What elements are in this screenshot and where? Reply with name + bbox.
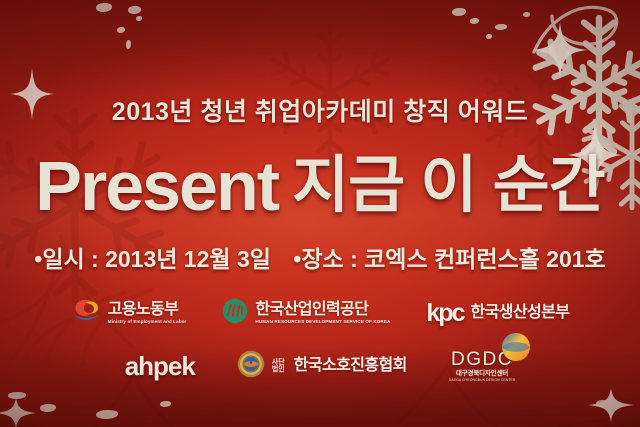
event-kicker: 2013년 청년 취업아카데미 창직 어워드 <box>0 92 640 128</box>
sponsor-row-secondary: ahpek 사단 법인 한국소호진흥협회 <box>0 344 640 388</box>
gradient-sphere-icon <box>501 332 531 367</box>
ksoho-prefix: 사단 법인 <box>272 359 285 374</box>
date-label: 일시 : <box>42 246 105 272</box>
sponsor-name-ko: 한국산업인력공단 <box>255 302 390 318</box>
sponsor-logo-hrdkorea: 한국산업인력공단 HUMAN RESOURCES DEVELOPMENT SER… <box>222 298 390 329</box>
sponsor-text-hrdkorea: 한국산업인력공단 HUMAN RESOURCES DEVELOPMENT SER… <box>255 302 390 325</box>
banner-photo: 2013년 청년 취업아카데미 창직 어워드 Present 지금 이 순간 •… <box>0 0 640 427</box>
sponsor-name-ko: 대구경북디자인센터 <box>456 371 508 378</box>
ksoho-prefix-line1: 사단 <box>272 359 285 366</box>
sponsor-name-ko: 고용노동부 <box>108 302 187 318</box>
kpc-wordmark: kpc <box>426 299 463 328</box>
venue-label: 장소 : <box>301 246 364 272</box>
headline-korean: 지금 이 순간 <box>292 155 605 217</box>
sponsor-text-moel: 고용노동부 Ministry of Employment and Labor <box>108 302 187 325</box>
sponsor-logo-moel: 고용노동부 Ministry of Employment and Labor <box>71 296 187 331</box>
event-info-line: •일시 : 2013년 12월 3일 •장소 : 코엑스 컨퍼런스홀 201호 <box>0 240 640 274</box>
sponsor-text-kpc: 한국생산성본부 <box>471 305 570 321</box>
sponsor-logo-ksoho: 사단 법인 한국소호진흥협회 <box>237 350 407 383</box>
sponsor-name-en: HUMAN RESOURCES DEVELOPMENT SERVICE OF K… <box>255 320 390 325</box>
ksoho-prefix-line2: 법인 <box>272 366 285 373</box>
green-circle-emblem-icon <box>222 298 248 329</box>
sponsor-name-ko: 한국소호진흥협회 <box>294 358 407 374</box>
sponsor-row-primary: 고용노동부 Ministry of Employment and Labor 한… <box>0 292 640 334</box>
sponsor-text-ksoho: 한국소호진흥협회 <box>294 358 407 374</box>
ahpek-wordmark: ahpek <box>125 351 195 382</box>
headline: Present 지금 이 순간 <box>0 148 640 224</box>
date-value: 2013년 12월 3일 <box>105 246 271 272</box>
sponsor-logo-dgdc: DGDC 대구경북디자인센터 DAEGU GYEONGBUK DESIGN CE… <box>449 350 516 382</box>
headline-english: Present <box>35 151 278 221</box>
sponsor-name-en: DAEGU GYEONGBUK DESIGN CENTER <box>449 379 516 382</box>
sponsor-name-ko: 한국생산성본부 <box>471 305 570 321</box>
sponsor-logo-kpc: kpc 한국생산성본부 <box>426 299 569 328</box>
swoosh-emblem-icon <box>71 296 101 331</box>
venue-value: 코엑스 컨퍼런스홀 201호 <box>364 246 606 272</box>
sponsor-logo-ahpek: ahpek <box>125 351 195 382</box>
sponsor-name-en: Ministry of Employment and Labor <box>108 320 187 325</box>
gold-circle-emblem-icon <box>237 350 265 383</box>
